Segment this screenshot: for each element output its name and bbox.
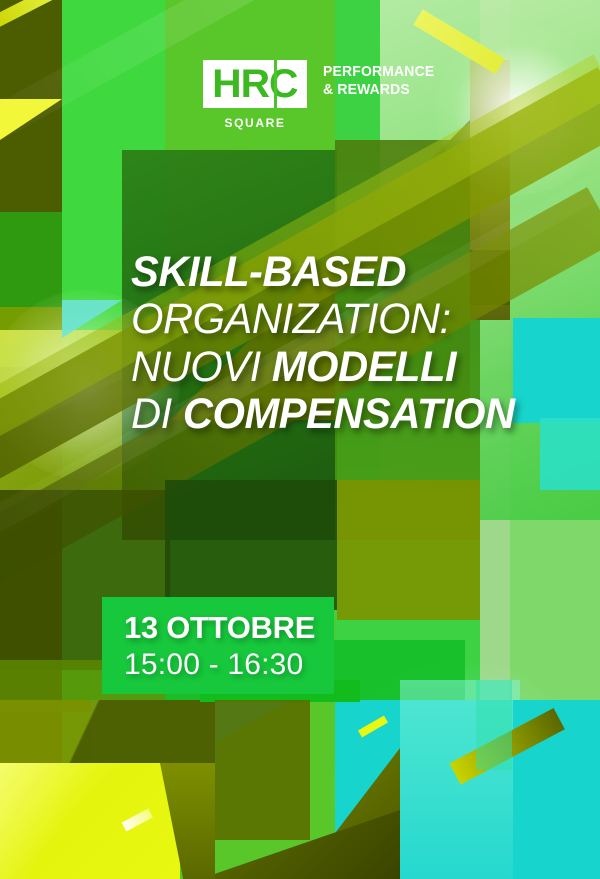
brand-logo: HRC SQUARE PERFORMANCE & REWARDS xyxy=(203,60,443,130)
bg-column-4 xyxy=(335,0,480,879)
title-line-1: SKILL-BASED xyxy=(131,249,548,296)
bg-cyan-small-left xyxy=(62,300,122,338)
title-line-4-light: DI xyxy=(131,390,183,438)
logo-wordmark: HRC xyxy=(212,64,297,104)
bg-green-strip-right xyxy=(476,680,512,770)
background-art xyxy=(0,0,600,879)
bg-cyan-bottom-wedge xyxy=(91,688,311,766)
event-time: 15:00 - 16:30 xyxy=(124,650,315,680)
title-line-4-bold: COMPENSATION xyxy=(183,390,515,438)
bg-column-5 xyxy=(480,0,510,879)
title-line-3-light: NUOVI xyxy=(131,343,272,391)
bg-olive-divider-bottom xyxy=(215,700,310,840)
title-line-2: ORGANIZATION: xyxy=(131,296,548,343)
bg-cyan-bottom-main xyxy=(335,700,600,879)
title-line-4: DI COMPENSATION xyxy=(131,391,548,438)
event-date-block: 13 OTTOBRE 15:00 - 16:30 xyxy=(124,612,315,680)
bg-column-3 xyxy=(165,0,335,879)
bg-column-2 xyxy=(62,0,165,879)
bg-yellow-sparkle xyxy=(122,809,153,832)
bg-olive-tri-bottomright-2 xyxy=(200,810,400,879)
bg-column-6 xyxy=(510,0,600,879)
bg-cyan-bottom-left xyxy=(91,700,216,766)
bg-cyan-topright-sliver xyxy=(540,418,600,490)
bg-yellow-shard-2 xyxy=(0,99,62,140)
bg-olive-tri-bottomright xyxy=(300,748,400,879)
bg-olive-shard-bottomright xyxy=(449,708,564,785)
title-line-3: NUOVI MODELLI xyxy=(131,344,548,391)
bg-yellow-micro-shard xyxy=(358,716,388,738)
logo-divider xyxy=(274,60,277,108)
logo-subtext: SQUARE xyxy=(203,116,307,130)
brand-tagline: PERFORMANCE & REWARDS xyxy=(323,63,434,98)
bg-yellow-block-bottomleft xyxy=(0,763,180,879)
bg-cyan-right-strip xyxy=(513,700,600,879)
bg-olive-band-above-yellow xyxy=(0,700,215,763)
glow-bottom-subtle xyxy=(330,660,590,879)
bg-olive-field-lower-3 xyxy=(337,480,480,620)
bg-cyan-soft-column xyxy=(400,680,520,879)
bg-left-yellowgreen xyxy=(0,330,150,490)
bg-olive-topleft xyxy=(0,0,62,212)
bg-yellow-shard-1 xyxy=(0,0,70,30)
event-date: 13 OTTOBRE xyxy=(124,612,315,643)
bg-column-1 xyxy=(0,0,62,879)
bg-left-olive-mid xyxy=(0,307,62,367)
poster-canvas: HRC SQUARE PERFORMANCE & REWARDS SKILL-B… xyxy=(0,0,600,879)
title-line-3-bold: MODELLI xyxy=(272,343,456,391)
bg-olive-wedge-beside-yellow xyxy=(160,763,215,879)
glow-topright xyxy=(435,25,600,195)
bg-olive-band-diag xyxy=(0,700,215,763)
bg-yellow-block-wide xyxy=(0,763,182,879)
bg-olive-field-lower-2 xyxy=(165,480,337,610)
bg-green-block-left xyxy=(0,212,62,307)
page-title: SKILL-BASED ORGANIZATION: NUOVI MODELLI … xyxy=(131,249,548,438)
logo-box: HRC xyxy=(203,60,307,108)
logo-mark: HRC SQUARE xyxy=(203,60,307,130)
